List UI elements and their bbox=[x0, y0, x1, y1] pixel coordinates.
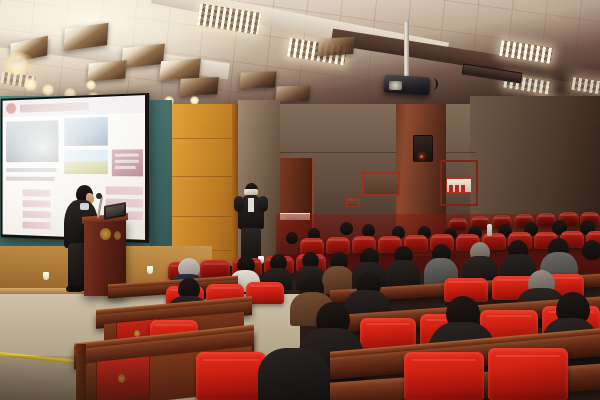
ceiling-luminaire-6 bbox=[179, 77, 219, 96]
audience-head-b1 bbox=[340, 222, 353, 235]
presenter-shoe bbox=[66, 286, 83, 292]
water-bottle-rear bbox=[487, 224, 492, 236]
stage-teal-wall-strip bbox=[150, 100, 172, 266]
ceiling-luminaire-7 bbox=[239, 71, 277, 88]
projector-lens bbox=[389, 81, 402, 90]
wall-speaker bbox=[413, 135, 433, 162]
projector-cable bbox=[428, 78, 438, 90]
lectern-emblem-side bbox=[114, 231, 121, 240]
lectern-emblem bbox=[100, 228, 111, 240]
presenter-collar bbox=[80, 203, 89, 210]
photographer-shirt bbox=[248, 198, 254, 212]
downlight-1 bbox=[24, 78, 37, 91]
ceiling-luminaire-9 bbox=[317, 37, 354, 57]
photographer-arm-right bbox=[258, 196, 268, 212]
paper-cup-4 bbox=[43, 272, 49, 280]
lecture-hall-photo bbox=[0, 0, 600, 400]
ceiling-luminaire-8 bbox=[275, 85, 311, 101]
aisle-shadow bbox=[0, 356, 150, 400]
audience-head-b12 bbox=[286, 232, 298, 244]
rear-small-plate bbox=[346, 198, 360, 207]
photographer-arm-left bbox=[234, 196, 244, 212]
rear-wall-seam bbox=[276, 152, 476, 153]
seat-foreground-1 bbox=[196, 352, 266, 400]
stage-wood-panel bbox=[172, 104, 236, 266]
ceiling-spot-glow bbox=[0, 52, 34, 76]
microphone-head bbox=[96, 193, 102, 199]
audience-head-r3-12 bbox=[582, 240, 600, 260]
paper-cup-1 bbox=[147, 266, 153, 274]
downlight-9 bbox=[86, 80, 96, 90]
speaker-power-indicator bbox=[420, 155, 423, 158]
audience-body-foreground bbox=[258, 348, 330, 400]
seat-foreground-2 bbox=[404, 352, 484, 400]
sign-door-frame bbox=[440, 160, 478, 206]
seat-foreground-3 bbox=[488, 348, 568, 400]
projector-mount-pole bbox=[404, 22, 409, 80]
downlight-2 bbox=[42, 84, 54, 96]
ceiling-luminaire-4 bbox=[87, 60, 126, 82]
framed-notice bbox=[362, 172, 400, 196]
